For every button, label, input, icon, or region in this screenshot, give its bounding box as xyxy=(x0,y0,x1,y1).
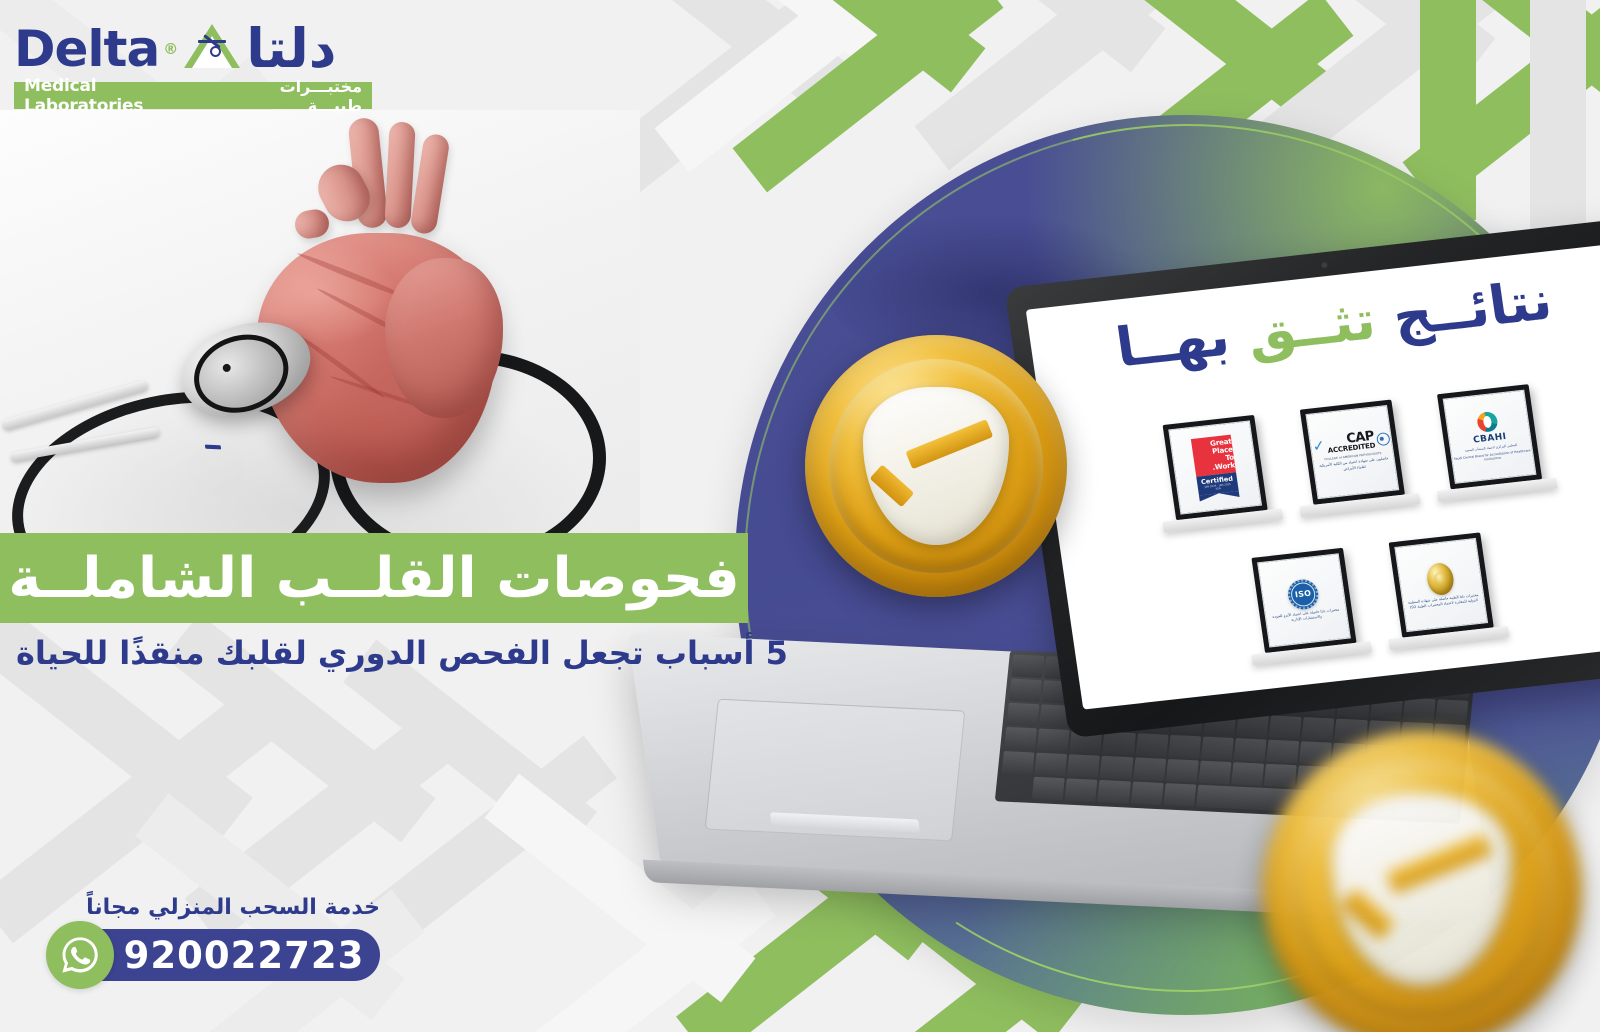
brand-tagline-ar: مختبـــرات طبيـــة xyxy=(220,77,362,115)
gold-shield-check-badge-blurred xyxy=(1262,730,1582,1032)
page-subtitle: 5 أسباب تجعل الفحص الدوري لقلبك منقذًا ل… xyxy=(0,625,730,681)
certificate-row-bottom: مختبرات دلتا الطبية حاصلة على شهادة المن… xyxy=(1065,511,1600,674)
page-title: فحوصات القلــب الشاملــة xyxy=(8,546,740,611)
registered-trademark-icon: ® xyxy=(163,40,178,58)
cap-logo-icon xyxy=(1376,432,1391,446)
brand-tagline-en: Medical Laboratories xyxy=(24,76,220,116)
gptw-country: KSA xyxy=(1215,487,1221,491)
iso-seal-icon: ISO xyxy=(1286,578,1320,611)
laptop-lid: نتائــج تثــق بهــا CBAHI المجلس المركزي… xyxy=(1004,217,1600,739)
screen-headline-part1: نتائــج xyxy=(1389,268,1556,348)
phone-number: 920022723 xyxy=(86,934,365,977)
great-place-to-work-icon: GreatPlaceToWork. Certified JAN 2024 - J… xyxy=(1191,435,1240,501)
screen-headline-part2: بهــا xyxy=(1112,305,1233,380)
brand-tagline-bar: Medical Laboratories مختبـــرات طبيـــة xyxy=(14,82,372,109)
anatomical-heart-icon xyxy=(235,118,525,508)
certificate-iso-certified: ISO مختبرات دلتا حاصلة على اعتماد الأيزو… xyxy=(1251,548,1356,653)
whatsapp-icon[interactable] xyxy=(46,921,114,989)
certificate-iso-15189: مختبرات دلتا الطبية حاصلة على شهادة المن… xyxy=(1389,532,1494,637)
certificate-cap: CAP ACCREDITED ✓ COLLEGE of AMERICAN PAT… xyxy=(1300,400,1405,505)
gold-shield-check-badge xyxy=(805,335,1067,597)
screen-headline-highlight: تثــق xyxy=(1243,288,1379,365)
certificate-subtitle-ar: مختبرات دلتا حاصلة على اعتماد الأيزو للج… xyxy=(1267,607,1346,626)
certificate-cbahi: CBAHI المجلس المركزي لاعتماد المنشآت الص… xyxy=(1437,384,1542,489)
certificate-subtitle-ar: مختبرات دلتا الطبية حاصلة على شهادة المن… xyxy=(1404,592,1483,611)
contact-block: خدمة السحب المنزلي مجاناً 920022723 xyxy=(30,895,390,1005)
certificate-row-top: CBAHI المجلس المركزي لاعتماد المنشآت الص… xyxy=(1044,371,1600,534)
check-icon: ✓ xyxy=(1312,441,1326,451)
webcam-icon xyxy=(1321,262,1328,269)
brand-name-ar: دلتا xyxy=(246,22,336,76)
home-collection-service-label: خدمة السحب المنزلي مجاناً xyxy=(86,895,380,920)
headline-band: فحوصات القلــب الشاملــة xyxy=(0,533,748,623)
laptop-screen: نتائــج تثــق بهــا CBAHI المجلس المركزي… xyxy=(1026,242,1600,709)
brand-logo[interactable]: Delta ® دلتا Medical Laboratories مختبــ… xyxy=(14,18,394,108)
cbahi-logo-icon xyxy=(1476,411,1499,433)
gold-medal-icon xyxy=(1425,561,1455,596)
hero-photo-heart-stethoscope xyxy=(0,110,640,540)
poster-canvas: نتائــج تثــق بهــا CBAHI المجلس المركزي… xyxy=(0,0,1600,1032)
microscope-triangle-icon xyxy=(184,24,242,74)
screen-headline: نتائــج تثــق بهــا xyxy=(1029,264,1600,385)
phone-pill[interactable]: 920022723 xyxy=(70,929,380,981)
certificate-great-place-to-work: GreatPlaceToWork. Certified JAN 2024 - J… xyxy=(1163,415,1268,520)
brand-name-en: Delta xyxy=(14,20,159,78)
